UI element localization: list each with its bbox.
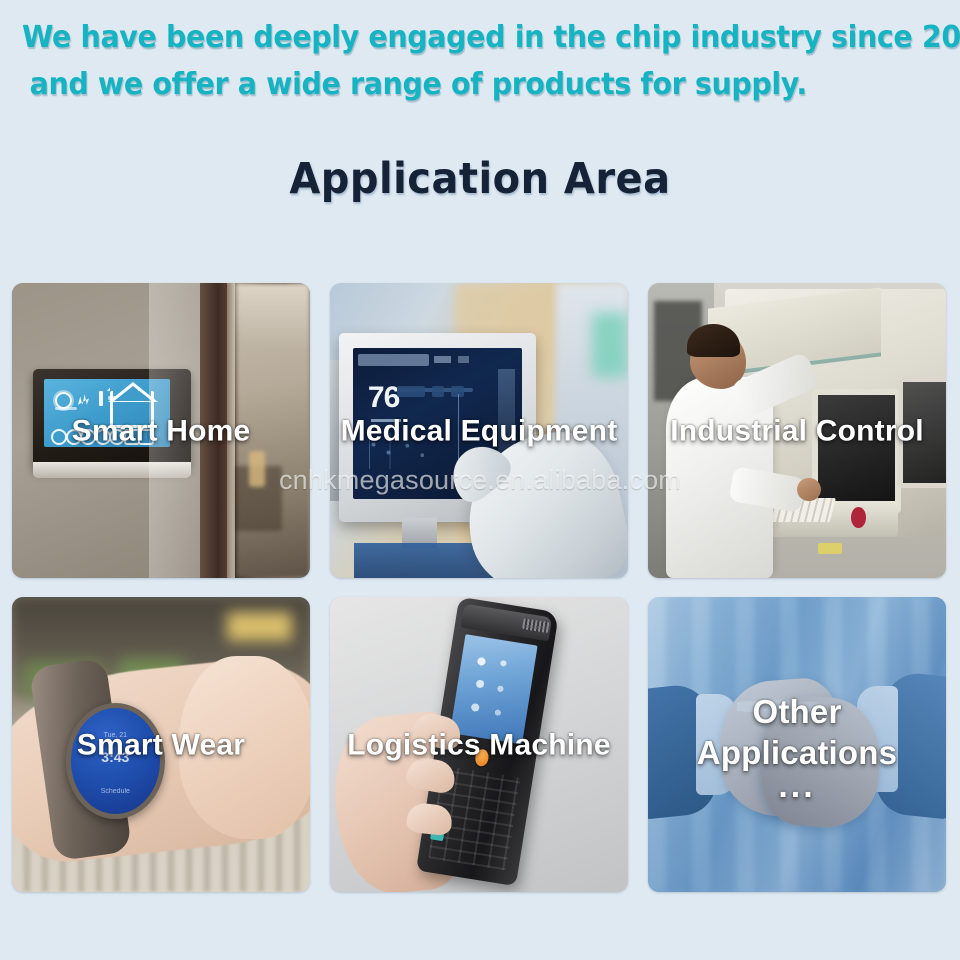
- terminal-screen-icons: [461, 645, 528, 733]
- emergency-stop-button: [851, 507, 866, 528]
- background-green-blur: [592, 313, 628, 378]
- room-ceiling: [236, 283, 311, 348]
- panel-dock: [51, 428, 162, 443]
- monitor-toolbar: [358, 354, 429, 366]
- watch-face: Tue, 21 3:43 Schedule: [66, 703, 165, 819]
- warning-label: [818, 543, 842, 555]
- terminal-screen: [450, 634, 538, 744]
- other-applications-photo: [648, 597, 946, 892]
- monitor-toolbar-chip-1: [434, 356, 451, 364]
- card-medical-equipment[interactable]: 76 Medical Equipment: [330, 283, 628, 578]
- monitor-data-points: [366, 439, 440, 466]
- panel-base: [33, 462, 191, 478]
- watch-date-text: Tue, 21: [71, 732, 160, 739]
- card-other-applications[interactable]: Other Applications ...: [648, 597, 946, 892]
- background-room: [236, 283, 311, 578]
- watch-time-text: 3:43: [71, 749, 160, 765]
- medical-equipment-photo: 76: [330, 283, 628, 578]
- monitor-chip-2: [432, 386, 444, 397]
- page-title-text: Application Area: [289, 153, 670, 205]
- panel-screen: [44, 379, 170, 447]
- industrial-control-photo: [648, 283, 946, 578]
- dock-icon-climate: [80, 429, 96, 445]
- dock-icon-media: [109, 429, 125, 445]
- door-frame: [200, 283, 230, 578]
- headline-block: We have been deeply engaged in the chip …: [0, 14, 960, 108]
- monitor-chip-1: [397, 386, 426, 397]
- card-industrial-control[interactable]: Industrial Control: [648, 283, 946, 578]
- monitor-vital-value: 76: [368, 381, 399, 415]
- card-smart-home[interactable]: Smart Home: [12, 283, 310, 578]
- subtitle-bar-icon: [55, 407, 77, 410]
- watch-schedule-text: Schedule: [71, 788, 160, 795]
- card-logistics-machine[interactable]: Logistics Machine: [330, 597, 628, 892]
- digit-icon: [99, 391, 103, 406]
- monitor-vital-label: [371, 419, 401, 422]
- monitor-toolbar-chip-2: [458, 356, 470, 364]
- background-light: [227, 612, 293, 642]
- machine-monitor: [812, 389, 901, 513]
- blue-color-overlay: [648, 597, 946, 892]
- smart-home-photo: [12, 283, 310, 578]
- card-smart-wear[interactable]: Tue, 21 3:43 Schedule Smart Wear: [12, 597, 310, 892]
- page-title: Application Area: [0, 153, 960, 205]
- logistics-machine-photo: [330, 597, 628, 892]
- machine-monitor-secondary: [898, 377, 946, 487]
- room-lamp: [249, 451, 265, 486]
- headline-line-1: We have been deeply engaged in the chip …: [22, 14, 892, 61]
- house-body-icon: [110, 391, 154, 428]
- headline-line-2: and we offer a wide range of products fo…: [22, 61, 892, 108]
- scan-button: [474, 748, 490, 766]
- smart-home-panel: [33, 369, 191, 469]
- hand: [179, 656, 310, 839]
- door-edge: [227, 283, 236, 578]
- technician-hand: [797, 478, 821, 502]
- application-area-grid: Smart Home 76: [12, 283, 946, 892]
- smart-wear-photo: Tue, 21 3:43 Schedule: [12, 597, 310, 892]
- chart-icon: [78, 393, 89, 405]
- dock-icon-settings: [138, 429, 154, 445]
